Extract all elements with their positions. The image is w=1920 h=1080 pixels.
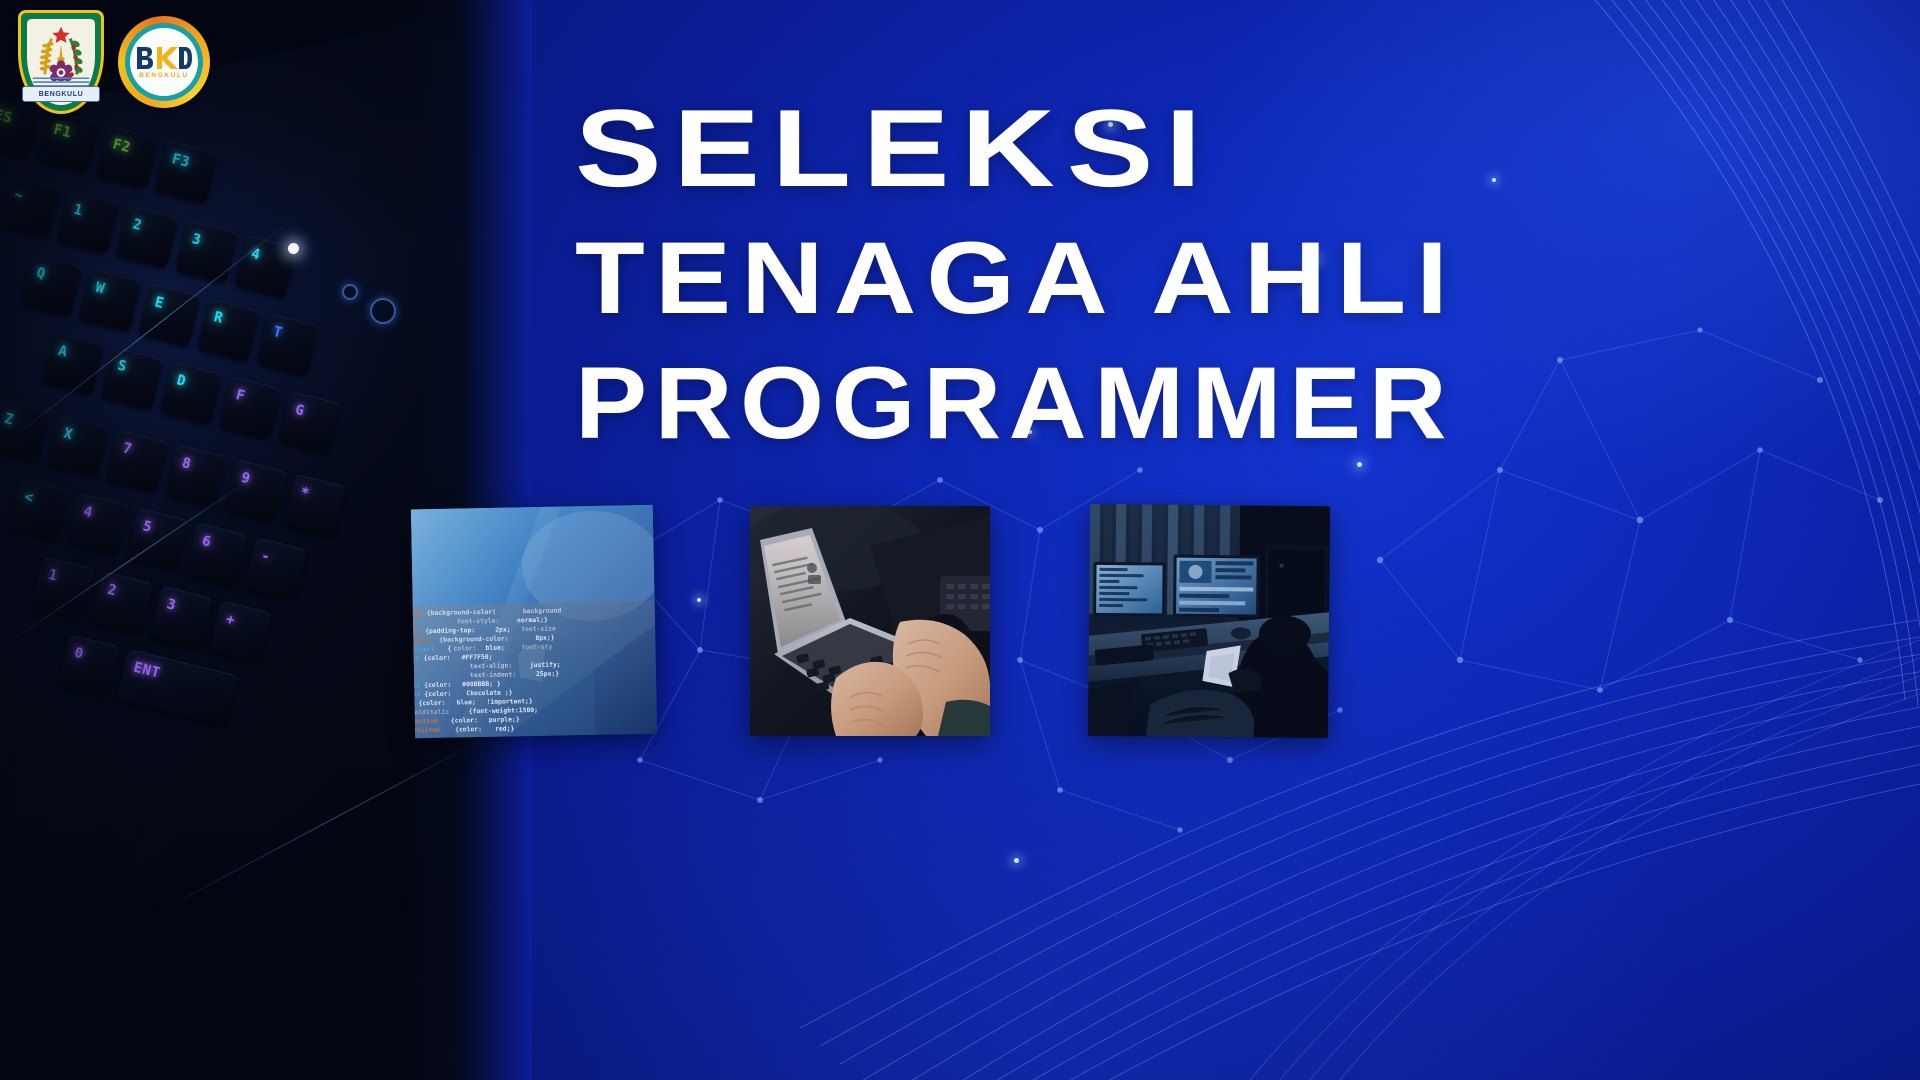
photo-hands-typing-laptop[interactable] — [750, 506, 990, 736]
photo-multi-monitor-dark-room[interactable] — [1088, 504, 1330, 739]
bkd-logo: BENGKULU — [118, 16, 210, 108]
poster-canvas: ES F1 F2 F3 ~ 1 2 3 4 Q W E R T A S D F … — [0, 0, 1920, 1080]
bengkulu-provincial-crest-logo: BENGKULU — [18, 10, 104, 114]
sparkle-dot — [697, 598, 701, 602]
logo-group: BENGKULU BENGKULU — [18, 10, 210, 114]
bkd-monogram-icon — [135, 45, 193, 71]
poster-title: SELEKSI TENAGA AHLI PROGRAMMER — [575, 82, 1695, 465]
title-line-3: PROGRAMMER — [575, 341, 1762, 465]
bkd-sublabel: BENGKULU — [139, 72, 189, 79]
crest-name-band: BENGKULU — [22, 86, 100, 102]
title-line-1: SELEKSI — [575, 82, 1897, 216]
sparkle-dot — [1014, 858, 1019, 863]
photo-css-code-screen[interactable]: ody{background-color(background font-sty… — [411, 505, 657, 739]
title-line-2: TENAGA AHLI — [575, 216, 1829, 340]
bkd-core-disc: BENGKULU — [130, 28, 198, 96]
